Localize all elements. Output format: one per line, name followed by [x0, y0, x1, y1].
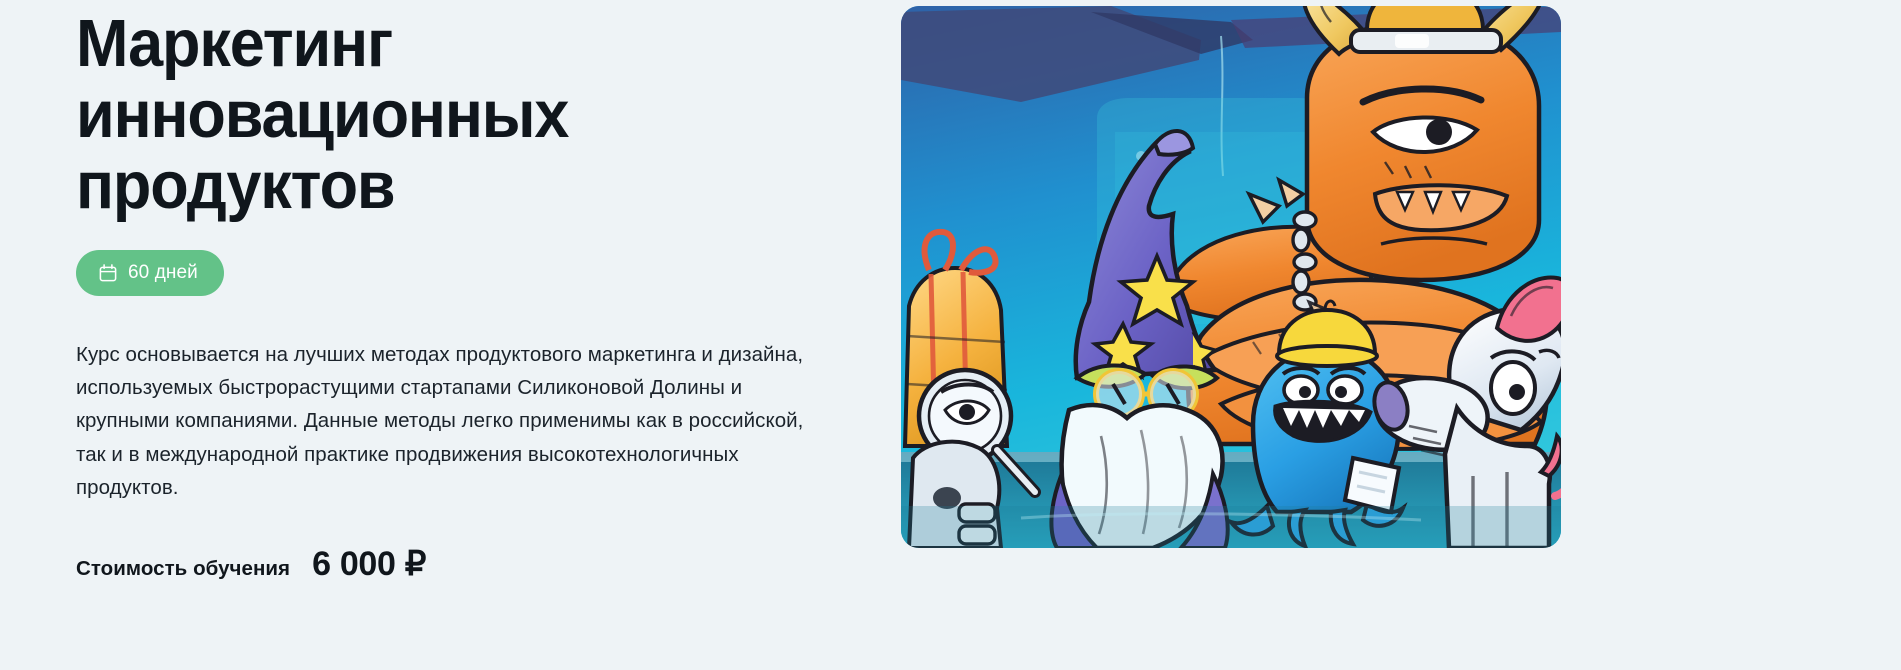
duration-badge[interactable]: 60 дней — [76, 250, 224, 296]
calendar-icon — [99, 264, 117, 282]
price-row: Стоимость обучения 6 000 ₽ — [76, 544, 900, 584]
course-illustration — [901, 6, 1561, 548]
course-card-page: Маркетинг инновационных продуктов 60 дне… — [0, 0, 1901, 670]
course-description: Курс основывается на лучших методах прод… — [76, 296, 821, 504]
duration-badge-label: 60 дней — [128, 263, 198, 282]
course-content-column: Маркетинг инновационных продуктов 60 дне… — [0, 0, 900, 584]
price-value: 6 000 ₽ — [312, 544, 426, 584]
badge-row: 60 дней — [76, 250, 900, 296]
price-label: Стоимость обучения — [76, 557, 290, 581]
illustration-canvas — [901, 6, 1561, 548]
page-title: Маркетинг инновационных продуктов — [76, 0, 809, 221]
